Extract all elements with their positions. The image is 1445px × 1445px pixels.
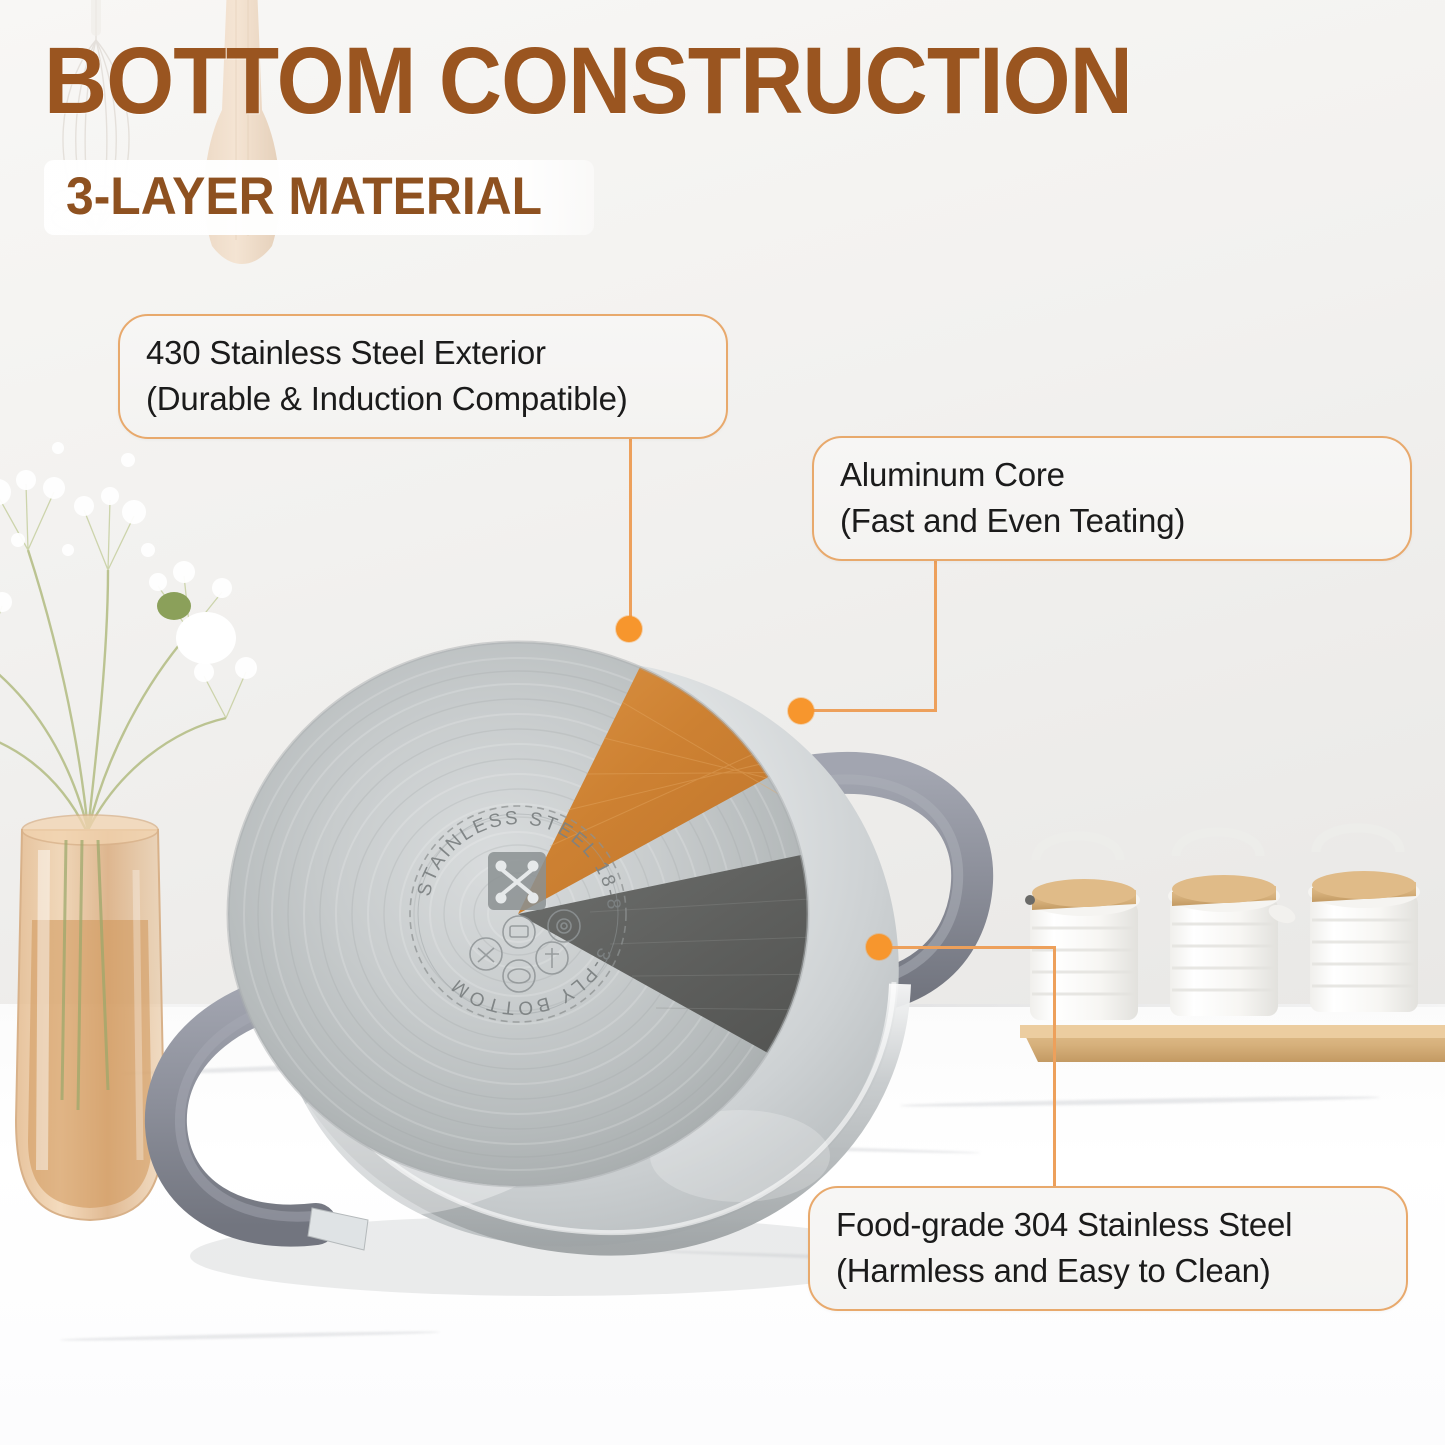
infographic-canvas: STAINLESS STEEL 18-8 MADE IN CHINA 3-PLY… <box>0 0 1445 1445</box>
spice-jar <box>1308 828 1420 1012</box>
leader-line-interior-vertical <box>1053 946 1056 1188</box>
callout-interior-line1: Food-grade 304 Stainless Steel <box>836 1202 1380 1248</box>
callout-interior: Food-grade 304 Stainless Steel (Harmless… <box>808 1186 1408 1311</box>
callout-core: Aluminum Core (Fast and Even Teating) <box>812 436 1412 561</box>
callout-core-line2: (Fast and Even Teating) <box>840 498 1384 544</box>
callout-exterior-line2: (Durable & Induction Compatible) <box>146 376 700 422</box>
leader-dot-interior <box>866 934 892 960</box>
spice-jar <box>1025 836 1140 1020</box>
page-subtitle: 3-LAYER MATERIAL <box>66 170 542 223</box>
spice-jar-set <box>1010 800 1445 1100</box>
leader-line-core-vertical <box>934 560 937 712</box>
subtitle-badge: 3-LAYER MATERIAL <box>44 160 594 235</box>
leader-line-interior-horizontal <box>880 946 1055 949</box>
leader-line-exterior <box>629 430 632 630</box>
leader-line-core-horizontal <box>800 709 937 712</box>
callout-exterior: 430 Stainless Steel Exterior (Durable & … <box>118 314 728 439</box>
page-title: BOTTOM CONSTRUCTION <box>44 34 1132 129</box>
leader-dot-exterior <box>616 616 642 642</box>
callout-interior-line2: (Harmless and Easy to Clean) <box>836 1248 1380 1294</box>
leader-dot-core <box>788 698 814 724</box>
spice-jar <box>1168 832 1298 1016</box>
callout-core-line1: Aluminum Core <box>840 452 1384 498</box>
callout-exterior-line1: 430 Stainless Steel Exterior <box>146 330 700 376</box>
